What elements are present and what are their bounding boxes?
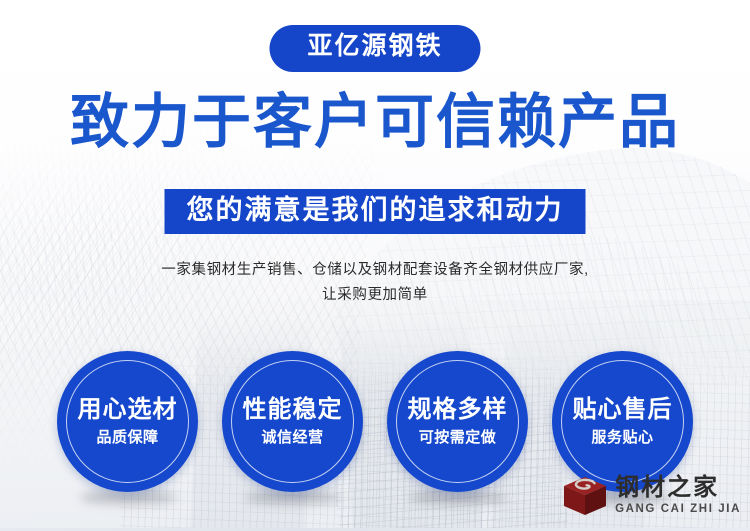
- circle-badge: 性能稳定 诚信经营: [222, 351, 363, 492]
- steel-promo-banner: 亚亿源钢铁 致力于客户可信赖产品 您的满意是我们的追求和动力 一家集钢材生产销售…: [0, 0, 750, 531]
- circle-badge: 规格多样 可按需定做: [387, 351, 528, 492]
- headline: 致力于客户可信赖产品: [0, 92, 750, 154]
- watermark-name-cn: 钢材之家: [615, 476, 741, 500]
- feature-subtitle: 可按需定做: [419, 430, 497, 447]
- banner-content: 亚亿源钢铁 致力于客户可信赖产品 您的满意是我们的追求和动力 一家集钢材生产销售…: [0, 0, 750, 531]
- feature-circle-1: 用心选材 品质保障: [57, 351, 198, 492]
- circle-shadow: [245, 491, 341, 504]
- brand-name-pill: 亚亿源钢铁: [269, 25, 480, 72]
- circle-badge: 贴心售后 服务贴心: [552, 351, 693, 492]
- feature-circles: 用心选材 品质保障 性能稳定 诚信经营 规格多样 可按需定做: [0, 351, 750, 492]
- feature-title: 性能稳定: [243, 397, 343, 423]
- feature-circle-4: 贴心售后 服务贴心: [552, 351, 693, 492]
- watermark-name-en: GANG CAI ZHI JIA: [615, 504, 741, 516]
- description-text: 一家集钢材生产销售、仓储以及钢材配套设备齐全钢材供应厂家,让采购更加简单: [160, 258, 590, 309]
- subtitle-bar: 您的满意是我们的追求和动力: [165, 189, 586, 234]
- feature-subtitle: 品质保障: [96, 430, 158, 447]
- feature-title: 贴心售后: [573, 397, 673, 423]
- feature-circle-2: 性能稳定 诚信经营: [222, 351, 363, 492]
- feature-title: 规格多样: [408, 397, 508, 423]
- feature-circle-3: 规格多样 可按需定做: [387, 351, 528, 492]
- circle-badge: 用心选材 品质保障: [57, 351, 198, 492]
- site-watermark: 钢材之家 GANG CAI ZHI JIA: [562, 475, 741, 517]
- circle-shadow: [80, 491, 176, 504]
- feature-title: 用心选材: [78, 397, 178, 423]
- cube-g-logo-icon: [562, 475, 608, 517]
- watermark-text: 钢材之家 GANG CAI ZHI JIA: [615, 476, 741, 516]
- feature-subtitle: 诚信经营: [261, 430, 323, 447]
- feature-subtitle: 服务贴心: [591, 430, 653, 447]
- circle-shadow: [410, 491, 506, 504]
